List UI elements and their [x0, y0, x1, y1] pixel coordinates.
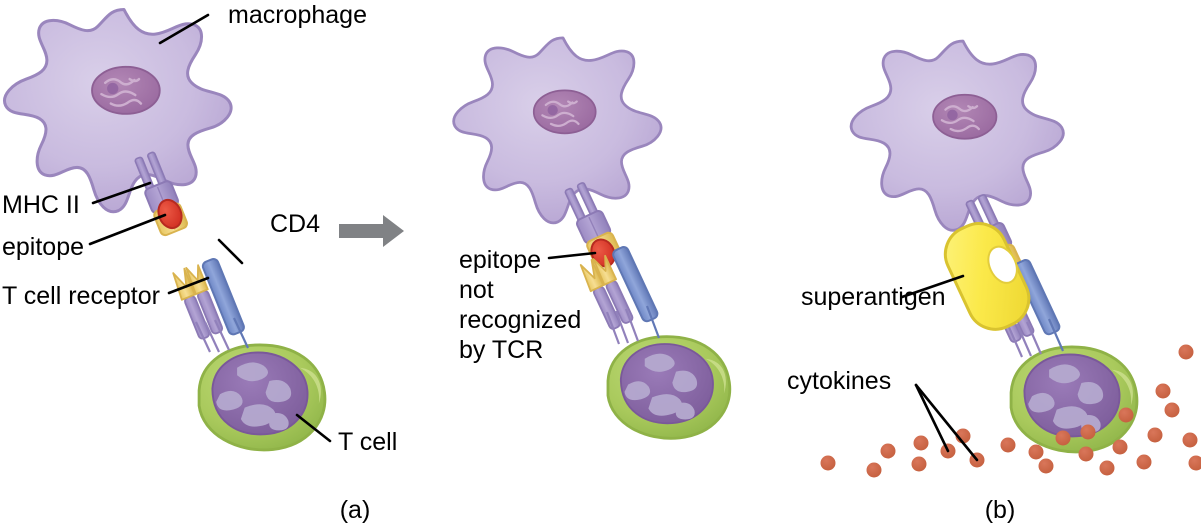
label-macrophage: macrophage	[228, 1, 367, 29]
cytokine-dot	[1156, 384, 1171, 399]
t-cell-b	[1011, 347, 1137, 452]
t-cell-middle	[608, 337, 730, 439]
label-cd4: CD4	[270, 210, 320, 238]
label-epitope-not-recognized-line-3: recognized	[459, 306, 581, 334]
caption-panel-b: (b)	[985, 496, 1016, 524]
label-mhc-ii: MHC II	[2, 191, 80, 219]
label-cytokines: cytokines	[787, 367, 891, 395]
cytokine-dot	[1081, 425, 1096, 440]
label-epitope-not-recognized-line-1: epitope	[459, 246, 541, 274]
label-epitope-not-recognized-line-4: by TCR	[459, 336, 543, 364]
cytokine-dot	[1148, 428, 1163, 443]
cytokine-dot	[1113, 440, 1128, 455]
cytokine-dot	[1056, 431, 1071, 446]
cytokine-dot	[1179, 345, 1194, 360]
label-superantigen: superantigen	[801, 283, 946, 311]
label-epitope-not-recognized-line-2: not	[459, 276, 494, 304]
cytokine-dot	[914, 436, 929, 451]
immunology-diagram: macrophage MHC II epitope T cell recepto…	[0, 0, 1201, 528]
cytokine-dot	[1137, 455, 1152, 470]
label-t-cell: T cell	[338, 428, 397, 456]
cytokine-dot	[1100, 461, 1115, 476]
cytokine-dot	[867, 463, 882, 478]
cytokine-dot	[1183, 433, 1198, 448]
label-epitope-a: epitope	[2, 233, 84, 261]
cytokine-dot	[1079, 447, 1094, 462]
t-cell-a	[199, 345, 325, 450]
cytokine-dot	[1029, 445, 1044, 460]
cytokine-dot	[1119, 408, 1134, 423]
cytokine-dot	[1001, 438, 1016, 453]
cytokine-dot	[1165, 403, 1180, 418]
cytokine-dot	[881, 444, 896, 459]
label-t-cell-receptor: T cell receptor	[2, 282, 160, 310]
caption-panel-a: (a)	[340, 496, 371, 524]
cytokine-dot	[821, 456, 836, 471]
cytokine-dot	[912, 457, 927, 472]
cytokine-dot	[1039, 459, 1054, 474]
